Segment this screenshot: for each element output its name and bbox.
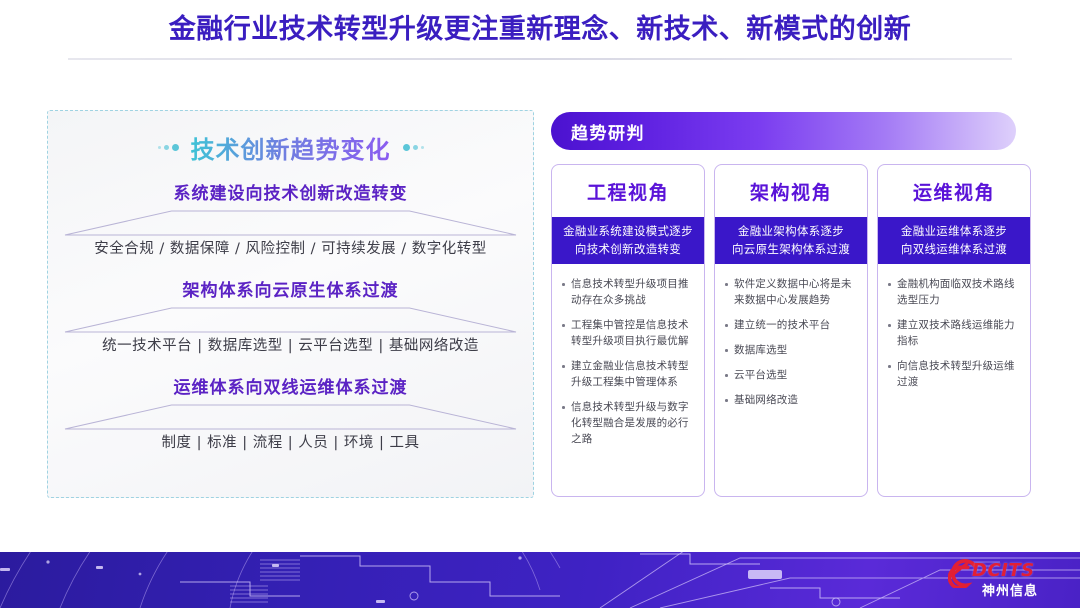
- page-title-container: 金融行业技术转型升级更注重新理念、新技术、新模式的创新: [0, 10, 1080, 50]
- card-band-line-1: 金融业架构体系逐步: [719, 222, 863, 240]
- footer-banner: DCITS 神州信息: [0, 552, 1080, 608]
- trend-change-heading-row: 技术创新趋势变化: [64, 129, 517, 165]
- trend-group-1-items: 安全合规 / 数据保障 / 风险控制 / 可持续发展 / 数字化转型: [64, 236, 517, 262]
- perspective-card-operations[interactable]: 运维视角 金融业运维体系逐步 向双线运维体系过渡 金融机构面临双技术路线选型压力…: [877, 164, 1031, 497]
- list-item: 数据库选型: [721, 342, 858, 358]
- perspective-card-engineering[interactable]: 工程视角 金融业系统建设模式逐步 向技术创新改造转变 信息技术转型升级项目推动存…: [551, 164, 705, 497]
- trend-group-1: 系统建设向技术创新改造转变 安全合规 / 数据保障 / 风险控制 / 可持续发展…: [64, 179, 517, 262]
- slide-root: 金融行业技术转型升级更注重新理念、新技术、新模式的创新 技术创新趋势变化 系统建…: [0, 0, 1080, 608]
- funnel-shape-1: [64, 210, 517, 236]
- list-item: 云平台选型: [721, 367, 858, 383]
- list-item: 建立金融业信息技术转型升级工程集中管理体系: [558, 358, 695, 390]
- perspective-card-list: 工程视角 金融业系统建设模式逐步 向技术创新改造转变 信息技术转型升级项目推动存…: [551, 164, 1032, 497]
- logo-wordmark: DCITS: [972, 560, 1035, 581]
- dots-left-icon: [158, 144, 179, 151]
- list-item: 信息技术转型升级项目推动存在众多挑战: [558, 276, 695, 308]
- trend-judgement-header: 趋势研判: [551, 112, 1016, 150]
- trend-group-2-items: 统一技术平台 | 数据库选型 | 云平台选型 | 基础网络改造: [64, 333, 517, 359]
- circuit-pattern-icon: [0, 552, 1080, 608]
- company-logo: DCITS 神州信息: [948, 558, 1068, 602]
- list-item: 工程集中管控是信息技术转型升级项目执行最优解: [558, 317, 695, 349]
- trend-group-3-items: 制度 | 标准 | 流程 | 人员 | 环境 | 工具: [64, 430, 517, 456]
- trend-group-1-title: 系统建设向技术创新改造转变: [64, 179, 517, 204]
- card-band: 金融业系统建设模式逐步 向技术创新改造转变: [552, 217, 704, 264]
- trend-group-2: 架构体系向云原生体系过渡 统一技术平台 | 数据库选型 | 云平台选型 | 基础…: [64, 276, 517, 359]
- trend-change-panel-inner: 技术创新趋势变化 系统建设向技术创新改造转变 安全合规 / 数据保障 / 风险控…: [48, 111, 533, 497]
- list-item: 向信息技术转型升级运维过渡: [884, 358, 1021, 390]
- trend-judgement-panel: 趋势研判 工程视角 金融业系统建设模式逐步 向技术创新改造转变 信息技术转型升级…: [551, 112, 1032, 498]
- card-title: 运维视角: [878, 165, 1030, 217]
- list-item: 建立统一的技术平台: [721, 317, 858, 333]
- card-bullet-list: 金融机构面临双技术路线选型压力 建立双技术路线运维能力指标 向信息技术转型升级运…: [884, 276, 1021, 390]
- card-bullet-list: 软件定义数据中心将是未来数据中心发展趋势 建立统一的技术平台 数据库选型 云平台…: [721, 276, 858, 408]
- list-item: 金融机构面临双技术路线选型压力: [884, 276, 1021, 308]
- list-item: 信息技术转型升级与数字化转型融合是发展的必行之路: [558, 399, 695, 447]
- card-title: 工程视角: [552, 165, 704, 217]
- card-title: 架构视角: [715, 165, 867, 217]
- list-item: 建立双技术路线运维能力指标: [884, 317, 1021, 349]
- card-body: 金融机构面临双技术路线选型压力 建立双技术路线运维能力指标 向信息技术转型升级运…: [878, 264, 1030, 496]
- list-item: 软件定义数据中心将是未来数据中心发展趋势: [721, 276, 858, 308]
- trend-change-heading: 技术创新趋势变化: [191, 130, 391, 165]
- page-title: 金融行业技术转型升级更注重新理念、新技术、新模式的创新: [0, 10, 1080, 50]
- list-item: 基础网络改造: [721, 392, 858, 408]
- card-band: 金融业运维体系逐步 向双线运维体系过渡: [878, 217, 1030, 264]
- card-band-line-2: 向双线运维体系过渡: [882, 240, 1026, 258]
- card-band-line-1: 金融业运维体系逐步: [882, 222, 1026, 240]
- trend-judgement-header-label: 趋势研判: [571, 119, 645, 144]
- funnel-shape-2: [64, 307, 517, 333]
- card-body: 信息技术转型升级项目推动存在众多挑战 工程集中管控是信息技术转型升级项目执行最优…: [552, 264, 704, 496]
- trend-group-3: 运维体系向双线运维体系过渡 制度 | 标准 | 流程 | 人员 | 环境 | 工…: [64, 373, 517, 456]
- card-band-line-2: 向云原生架构体系过渡: [719, 240, 863, 258]
- logo-chinese-name: 神州信息: [982, 580, 1038, 599]
- card-band-line-1: 金融业系统建设模式逐步: [556, 222, 700, 240]
- trend-group-3-title: 运维体系向双线运维体系过渡: [64, 373, 517, 398]
- trend-group-2-title: 架构体系向云原生体系过渡: [64, 276, 517, 301]
- funnel-shape-3: [64, 404, 517, 430]
- title-divider: [68, 58, 1012, 60]
- card-body: 软件定义数据中心将是未来数据中心发展趋势 建立统一的技术平台 数据库选型 云平台…: [715, 264, 867, 496]
- perspective-card-architecture[interactable]: 架构视角 金融业架构体系逐步 向云原生架构体系过渡 软件定义数据中心将是未来数据…: [714, 164, 868, 497]
- dots-right-icon: [403, 144, 424, 151]
- card-band-line-2: 向技术创新改造转变: [556, 240, 700, 258]
- card-bullet-list: 信息技术转型升级项目推动存在众多挑战 工程集中管控是信息技术转型升级项目执行最优…: [558, 276, 695, 447]
- trend-change-panel: 技术创新趋势变化 系统建设向技术创新改造转变 安全合规 / 数据保障 / 风险控…: [47, 110, 534, 498]
- card-band: 金融业架构体系逐步 向云原生架构体系过渡: [715, 217, 867, 264]
